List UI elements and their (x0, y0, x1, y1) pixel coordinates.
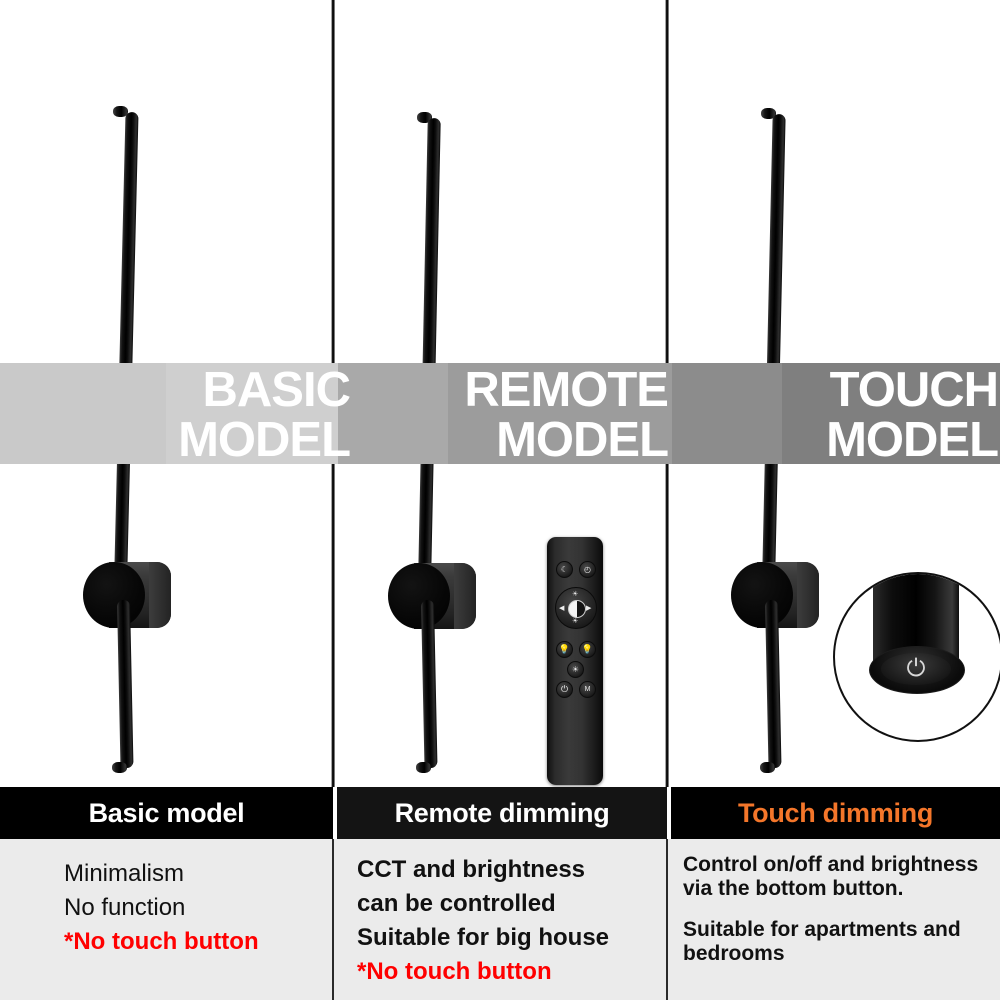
caption-divider-1 (333, 787, 337, 839)
description-remote: CCT and brightness can be controlled Sui… (337, 839, 667, 1000)
desc-line: can be controlled (357, 887, 667, 921)
remote-control: ☾ ◴ ☀ ☀ ◀ ▶ 💡 💡 ☀ ⏻ (547, 537, 603, 785)
description-basic: Minimalism No function *No touch button (0, 839, 333, 1000)
base-cylinder-face (83, 562, 145, 628)
brightness-up-icon[interactable]: ☀ (572, 591, 578, 598)
base-cylinder-face (388, 563, 450, 629)
rod-bottom-cap-icon (112, 762, 127, 773)
desc-line: via the bottom button. (683, 877, 1000, 901)
desc-line-warning: *No touch button (357, 955, 667, 989)
sun-icon: ☀ (572, 666, 579, 674)
lamp-upper-rod (418, 118, 441, 584)
desc-line: Control on/off and brightness (683, 853, 1000, 877)
bulb-icon: 💡 (582, 645, 593, 654)
lamp-upper-rod (114, 112, 139, 584)
panel-divider-2 (665, 0, 669, 787)
memory-icon: M (585, 686, 591, 693)
rod-bottom-cap-icon (760, 762, 775, 773)
description-divider-2 (666, 839, 668, 1000)
power-icon: ⏻ (561, 685, 568, 694)
description-touch: Control on/off and brightness via the bo… (671, 839, 1000, 1000)
caption-divider-2 (667, 787, 671, 839)
touch-button-closeup: ⏻ (833, 572, 1000, 742)
base-cylinder-side (149, 562, 171, 628)
power-symbol-icon: ⏻ (897, 656, 935, 682)
desc-line: Minimalism (64, 857, 333, 891)
base-cylinder-side (454, 563, 476, 629)
full-brightness-button[interactable]: ☀ (567, 661, 584, 678)
cool-light-button[interactable]: 💡 (579, 641, 596, 658)
panel-basic-model (0, 0, 333, 787)
caption-remote-dimming: Remote dimming (337, 787, 667, 839)
desc-line-warning: *No touch button (64, 925, 333, 959)
panel-divider-1 (331, 0, 335, 787)
lamp-upper-rod (762, 114, 786, 584)
cct-cool-icon[interactable]: ▶ (586, 605, 591, 612)
direction-pad[interactable]: ☀ ☀ ◀ ▶ (555, 587, 597, 629)
product-comparison-image: ☾ ◴ ☀ ☀ ◀ ▶ 💡 💡 ☀ ⏻ (0, 0, 1000, 1000)
desc-line: No function (64, 891, 333, 925)
moon-icon: ☾ (561, 566, 568, 574)
power-button[interactable]: ⏻ (556, 681, 573, 698)
memory-button[interactable]: M (579, 681, 596, 698)
base-cylinder-side (797, 562, 819, 628)
toggle-center-button[interactable] (568, 600, 586, 618)
caption-bars: Basic model Remote dimming Touch dimming (0, 787, 1000, 839)
desc-line: bedrooms (683, 942, 1000, 966)
bulb-icon: 💡 (559, 645, 570, 654)
panel-remote-model (337, 0, 667, 787)
cct-warm-icon[interactable]: ◀ (559, 605, 564, 612)
base-cylinder-face (731, 562, 793, 628)
night-light-button[interactable]: ☾ (556, 561, 573, 578)
desc-line: CCT and brightness (357, 853, 667, 887)
rod-bottom-cap-icon (416, 762, 431, 773)
desc-line: Suitable for big house (357, 921, 667, 955)
warm-light-button[interactable]: 💡 (556, 641, 573, 658)
desc-line: Suitable for apartments and (683, 918, 1000, 942)
desc-spacer (683, 902, 1000, 918)
description-row: Minimalism No function *No touch button … (0, 839, 1000, 1000)
clock-icon: ◴ (584, 566, 591, 574)
product-panels: ☾ ◴ ☀ ☀ ◀ ▶ 💡 💡 ☀ ⏻ (0, 0, 1000, 787)
caption-touch-dimming: Touch dimming (671, 787, 1000, 839)
caption-basic-model: Basic model (0, 787, 333, 839)
timer-button[interactable]: ◴ (579, 561, 596, 578)
description-divider-1 (332, 839, 334, 1000)
brightness-down-icon[interactable]: ☀ (572, 618, 578, 625)
